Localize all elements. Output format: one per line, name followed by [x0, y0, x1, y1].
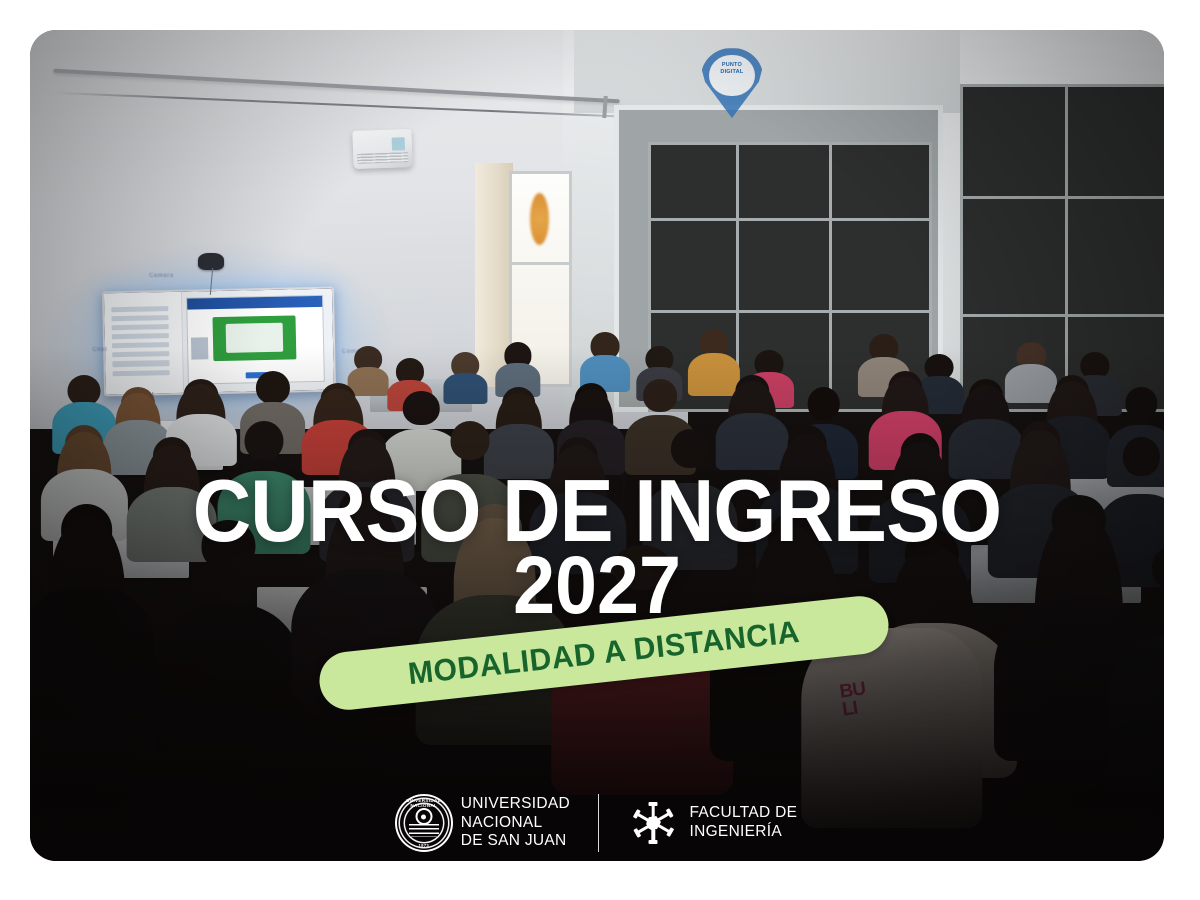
- university-name: UNIVERSIDAD NACIONAL DE SAN JUAN: [461, 795, 570, 852]
- footer-logos: UNIVERSIDAD NACIONAL 1973 UNIVERSIDAD NA…: [30, 794, 1164, 852]
- faculty-name-line-2: INGENIERÍA: [689, 823, 797, 842]
- photo-vignette-bottom: [30, 30, 1164, 861]
- university-lockup: UNIVERSIDAD NACIONAL 1973 UNIVERSIDAD NA…: [397, 795, 570, 852]
- facultad-ingenieria-icon: [627, 797, 679, 849]
- university-name-line-2: NACIONAL: [461, 814, 570, 833]
- seal-sun-icon: [417, 810, 430, 823]
- seal-stripes: [409, 824, 439, 838]
- poster-card: Camara Chat Compartir Sala PUNTO DIGITAL: [30, 30, 1164, 861]
- classroom-photo: Camara Chat Compartir Sala PUNTO DIGITAL: [30, 30, 1164, 861]
- page-title: CURSO DE INGRESO 2027: [75, 473, 1118, 621]
- headline-line-2: 2027: [75, 550, 1118, 621]
- punto-line2: DIGITAL: [710, 69, 754, 75]
- logo-divider: [598, 794, 600, 852]
- seal-arc-top-text: UNIVERSIDAD NACIONAL: [397, 798, 451, 808]
- university-name-line-3: DE SAN JUAN: [461, 832, 570, 851]
- faculty-lockup: FACULTAD DE INGENIERÍA: [627, 797, 797, 849]
- faculty-name-line-1: FACULTAD DE: [689, 804, 797, 823]
- faculty-name: FACULTAD DE INGENIERÍA: [689, 804, 797, 842]
- unsj-seal-icon: UNIVERSIDAD NACIONAL 1973: [397, 796, 451, 850]
- university-name-line-1: UNIVERSIDAD: [461, 795, 570, 814]
- seal-arc-bottom-text: 1973: [397, 843, 451, 848]
